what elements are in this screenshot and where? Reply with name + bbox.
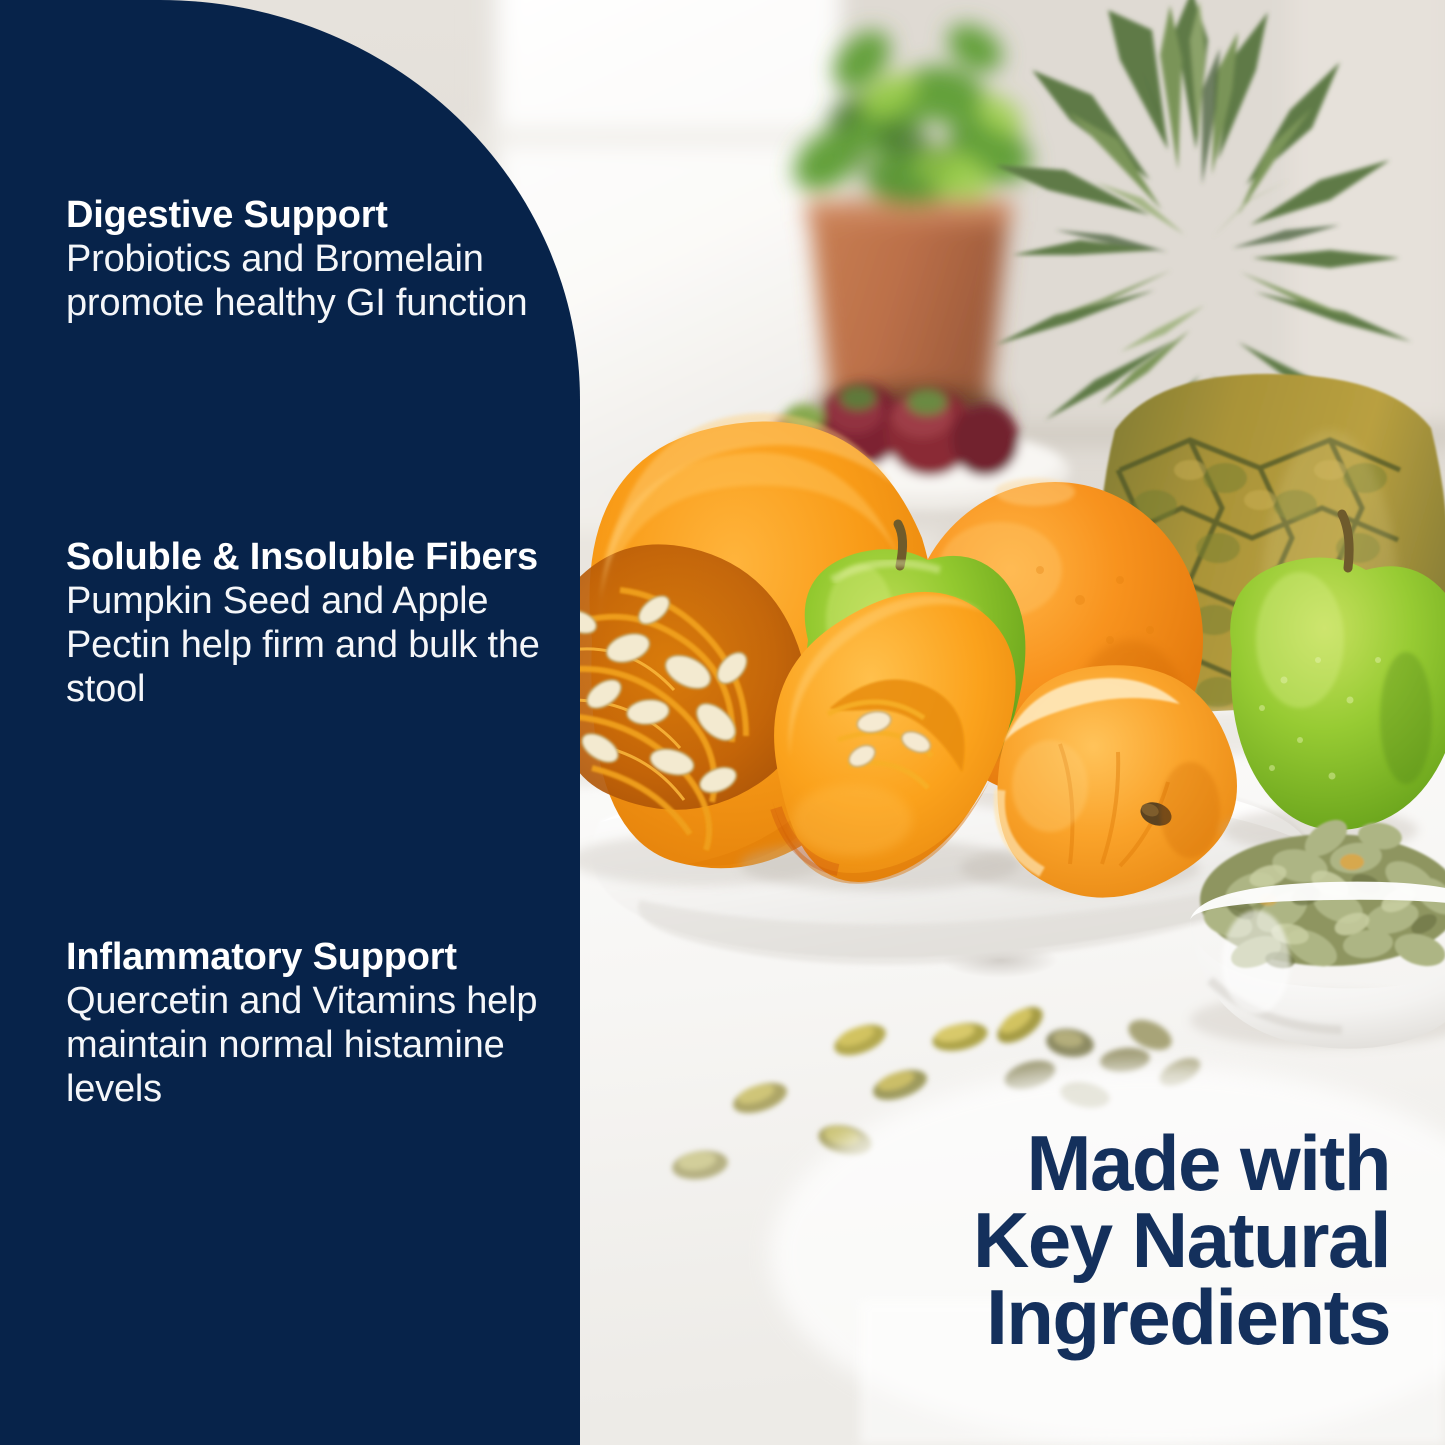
- feature-body: Probiotics and Bromelain promote healthy…: [66, 237, 566, 325]
- headline-line-1: Made with: [880, 1125, 1390, 1202]
- feature-body: Pumpkin Seed and Apple Pectin help firm …: [66, 579, 566, 711]
- feature-block-digestive-support: Digestive Support Probiotics and Bromela…: [66, 193, 566, 325]
- feature-block-inflammatory-support: Inflammatory Support Quercetin and Vitam…: [66, 935, 566, 1111]
- feature-title: Inflammatory Support: [66, 935, 566, 979]
- feature-title: Digestive Support: [66, 193, 566, 237]
- feature-body: Quercetin and Vitamins help maintain nor…: [66, 979, 566, 1111]
- infographic-canvas: Digestive Support Probiotics and Bromela…: [0, 0, 1445, 1445]
- feature-block-soluble-insoluble-fibers: Soluble & Insoluble Fibers Pumpkin Seed …: [66, 535, 566, 711]
- benefits-panel-content: Digestive Support Probiotics and Bromela…: [0, 0, 620, 1445]
- headline-line-3: Ingredients: [880, 1279, 1390, 1356]
- feature-title: Soluble & Insoluble Fibers: [66, 535, 566, 579]
- headline-line-2: Key Natural: [880, 1202, 1390, 1279]
- headline: Made with Key Natural Ingredients: [880, 1125, 1390, 1357]
